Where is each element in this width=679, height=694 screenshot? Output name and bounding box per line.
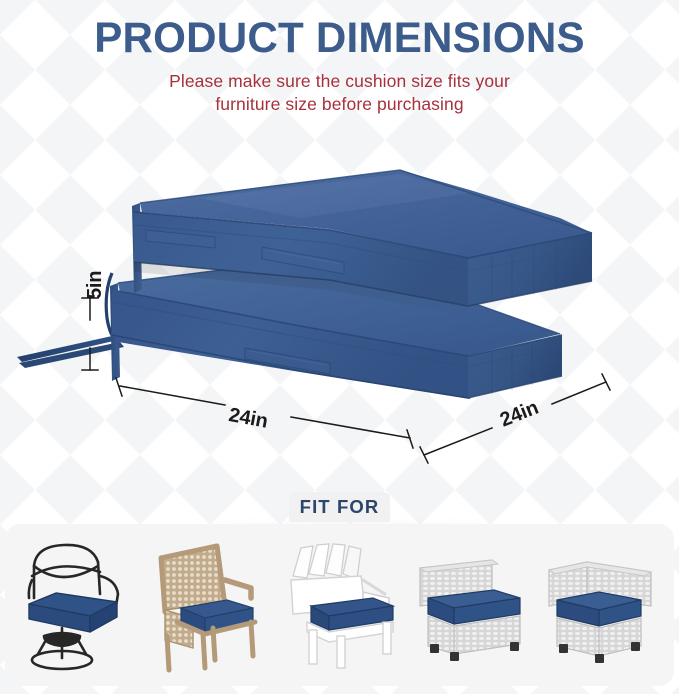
fit-for-badge: FIT FOR <box>289 492 390 522</box>
product-dimensions-infographic: PRODUCT DIMENSIONS Please make sure the … <box>0 0 679 694</box>
fit-for-label: FIT FOR <box>300 496 380 518</box>
header: PRODUCT DIMENSIONS Please make sure the … <box>0 16 679 117</box>
fit-item-wicker-dining-chair[interactable] <box>147 536 271 676</box>
page-subtitle: Please make sure the cushion size fits y… <box>0 70 679 117</box>
fit-for-card <box>5 524 674 686</box>
fit-item-wicker-sectional-corner[interactable] <box>539 536 663 676</box>
product-stage <box>0 150 679 480</box>
fit-item-wicker-sectional-armless[interactable] <box>408 536 532 676</box>
cushion-top <box>0 150 679 480</box>
fit-for-item-list <box>5 524 674 686</box>
fit-item-metal-swivel-chair[interactable] <box>16 536 140 676</box>
page-title: PRODUCT DIMENSIONS <box>7 16 672 61</box>
subtitle-line-1: Please make sure the cushion size fits y… <box>0 70 679 93</box>
subtitle-line-2: furniture size before purchasing <box>0 93 679 116</box>
fit-item-adirondack-chair[interactable] <box>277 536 401 676</box>
